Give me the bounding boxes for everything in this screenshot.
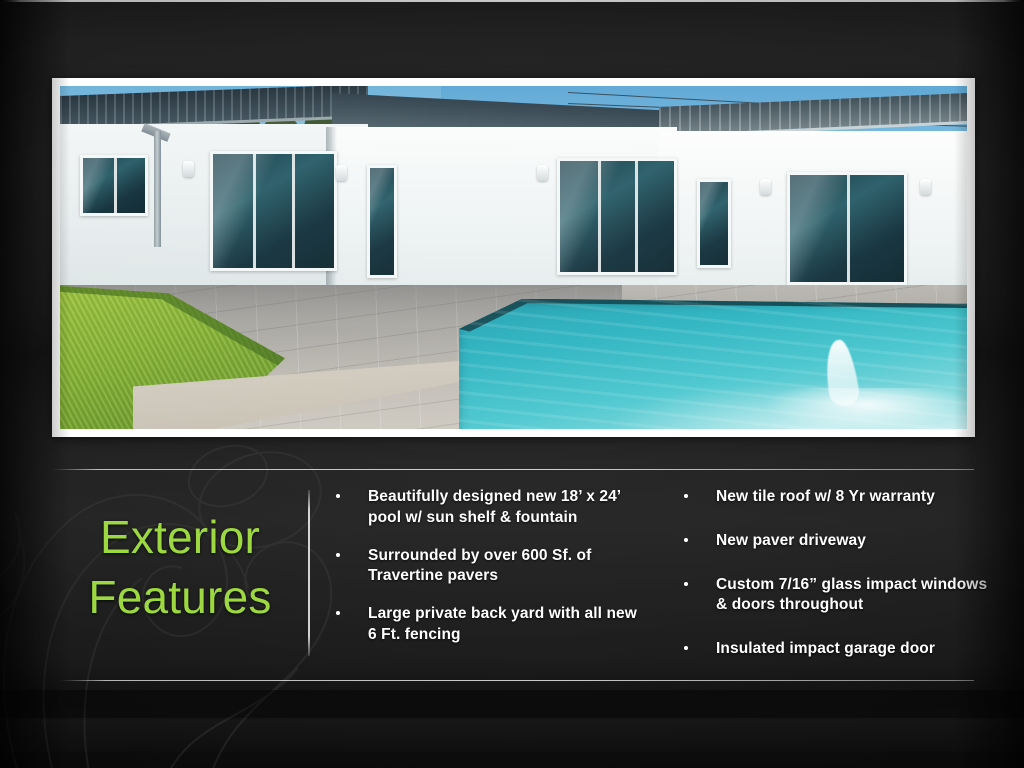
- window-left-small: [80, 155, 148, 217]
- bullet-list-right: New tile roof w/ 8 Yr warranty New paver…: [678, 487, 990, 660]
- divider-line-vertical: [308, 490, 310, 656]
- downspout: [154, 131, 161, 248]
- list-item: Surrounded by over 600 Sf. of Travertine…: [330, 546, 648, 588]
- backyard-pool-photo: [60, 86, 967, 429]
- list-item: Custom 7/16” glass impact windows & door…: [678, 575, 990, 617]
- list-item: Beautifully designed new 18’ x 24’ pool …: [330, 487, 648, 529]
- list-item: Large private back yard with all new 6 F…: [330, 604, 648, 646]
- list-item: New tile roof w/ 8 Yr warranty: [678, 487, 990, 508]
- features-column-left: Beautifully designed new 18’ x 24’ pool …: [330, 487, 648, 675]
- window-center-narrow: [367, 165, 398, 278]
- divider-line-top: [52, 469, 974, 470]
- wall-sconce-light: [760, 179, 771, 195]
- features-columns: Beautifully designed new 18’ x 24’ pool …: [330, 487, 990, 675]
- slide-photo-frame: [52, 78, 975, 437]
- bullet-list-left: Beautifully designed new 18’ x 24’ pool …: [330, 487, 648, 646]
- list-item: New paver driveway: [678, 531, 990, 552]
- slide-top-edge-line: [0, 0, 1024, 2]
- background-band-upper: [0, 690, 1024, 720]
- wall-sconce-light: [183, 161, 194, 177]
- page-title-line-2: Features: [60, 568, 300, 628]
- slider-left-wing: [210, 151, 337, 271]
- presentation-slide: Exterior Features Beautifully designed n…: [0, 0, 1024, 768]
- page-title: Exterior Features: [60, 508, 300, 628]
- divider-line-bottom: [60, 680, 974, 681]
- window-right-small: [697, 179, 731, 268]
- wall-sconce-light: [336, 165, 347, 181]
- pool-fountain-splash: [767, 388, 967, 429]
- wall-sconce-light: [920, 179, 931, 195]
- list-item: Insulated impact garage door: [678, 639, 990, 660]
- page-title-line-1: Exterior: [100, 511, 260, 563]
- slider-right-wing: [787, 172, 907, 285]
- slider-center-wing: [557, 158, 677, 275]
- features-column-right: New tile roof w/ 8 Yr warranty New paver…: [678, 487, 990, 675]
- wall-sconce-light: [537, 165, 548, 181]
- background-band-lower: [0, 718, 1024, 752]
